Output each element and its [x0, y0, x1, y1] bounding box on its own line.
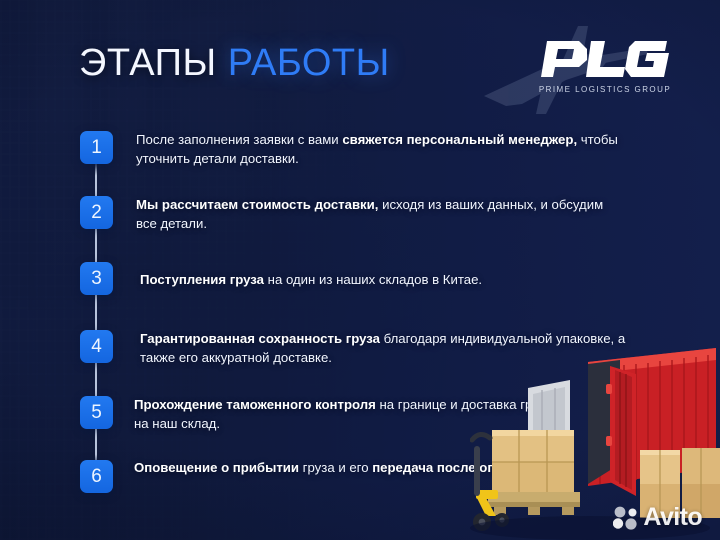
step-number-badge-2: 2	[80, 196, 113, 229]
step-number-badge-3: 3	[80, 262, 113, 295]
step-text-emphasis: Мы рассчитаем стоимость доставки,	[136, 197, 378, 212]
step-number-badge-5: 5	[80, 396, 113, 429]
step-text-plain: груза и его	[299, 460, 372, 475]
avito-dots-icon	[613, 506, 639, 530]
step-text-emphasis: Оповещение о прибытии	[134, 460, 299, 475]
avito-watermark: Avito	[613, 505, 702, 530]
pallet-boxes-left	[488, 430, 580, 515]
step-number-badge-6: 6	[80, 460, 113, 493]
step-text-emphasis: Гарантированная сохранность груза	[140, 331, 380, 346]
avito-label: Avito	[643, 505, 702, 530]
step-text-emphasis: Прохождение таможенного контроля	[134, 397, 376, 412]
step-text-plain: После заполнения заявки с вами	[136, 132, 342, 147]
step-text-plain: на один из наших складов в Китае.	[264, 272, 482, 287]
step-number-badge-1: 1	[80, 131, 113, 164]
step-text-emphasis: свяжется персональный менеджер,	[342, 132, 577, 147]
step-text-3: Поступления груза на один из наших склад…	[140, 271, 620, 290]
step-text-emphasis: Поступления груза	[140, 272, 264, 287]
step-text-2: Мы рассчитаем стоимость доставки, исходя…	[136, 196, 606, 233]
step-number-badge-4: 4	[80, 330, 113, 363]
slide-canvas: ЭТАПЫ РАБОТЫ PRIME LOGISTICS GROUP 1 Пос…	[0, 0, 720, 540]
step-text-1: После заполнения заявки с вами свяжется …	[136, 131, 624, 168]
